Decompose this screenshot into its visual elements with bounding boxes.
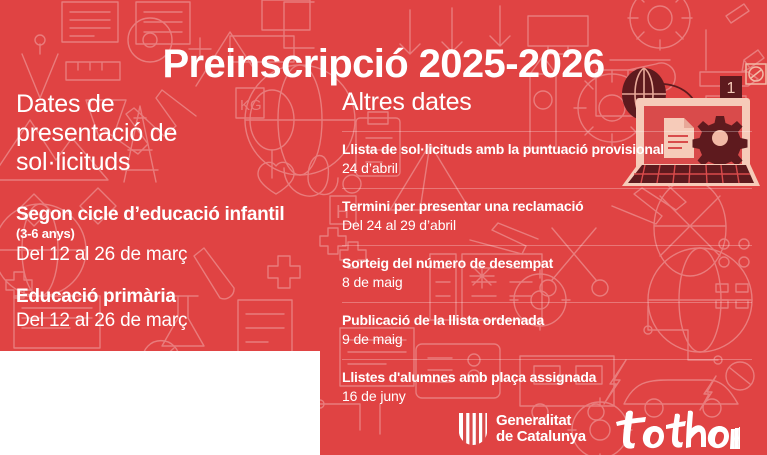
left-entry-dates: Del 12 al 26 de març xyxy=(16,243,316,267)
right-column-heading: Altres dates xyxy=(342,88,752,117)
left-entry: Educació primària Del 12 al 26 de març xyxy=(16,285,316,333)
right-entry: Sorteig del número de desempat 8 de maig xyxy=(342,245,752,302)
right-entry-date: 8 de maig xyxy=(342,273,752,292)
right-entry-title: Publicació de la llista ordenada xyxy=(342,312,752,329)
left-entry-subtitle: (3-6 anys) xyxy=(16,226,316,242)
catalunya-four-bars-shield-icon xyxy=(458,412,488,446)
left-entry-title: Educació primària xyxy=(16,285,316,308)
page-title: Preinscripció 2025-2026 xyxy=(0,41,767,87)
right-entry-date: Del 24 al 29 d’abril xyxy=(342,216,752,235)
logo-bar: Generalitat de Catalunya xyxy=(458,408,758,450)
right-entry-title: Llista de sol·licituds amb la puntuació … xyxy=(342,141,752,158)
right-entry: Publicació de la llista ordenada 9 de ma… xyxy=(342,302,752,359)
generalitat-logo-text: Generalitat de Catalunya xyxy=(496,413,586,445)
right-entry-title: Sorteig del número de desempat xyxy=(342,255,752,272)
left-entry: Segon cicle d’educació infantil (3-6 any… xyxy=(16,203,316,267)
left-entry-title: Segon cicle d’educació infantil xyxy=(16,203,316,226)
right-entry-date: 9 de maig xyxy=(342,330,752,349)
right-entry-title: Llistes d'alumnes amb plaça assignada xyxy=(342,369,752,386)
right-entry-title: Termini per presentar una reclamació xyxy=(342,198,752,215)
right-entry-date: 24 d’abril xyxy=(342,159,752,178)
left-column-heading: Dates de presentació de sol·licituds xyxy=(16,90,316,177)
preinscripcio-poster: H KG xyxy=(0,0,767,455)
right-entry: Termini per presentar una reclamació Del… xyxy=(342,188,752,245)
right-column: Altres dates Llista de sol·licituds amb … xyxy=(342,88,752,416)
tothom-logo xyxy=(612,409,740,449)
right-entry: Llista de sol·licituds amb la puntuació … xyxy=(342,131,752,188)
right-entry-date: 16 de juny xyxy=(342,387,752,406)
white-bottom-left-panel xyxy=(0,351,320,455)
left-entry-dates: Del 12 al 26 de març xyxy=(16,309,316,333)
left-column: Dates de presentació de sol·licituds Seg… xyxy=(16,90,316,351)
generalitat-de-catalunya-logo: Generalitat de Catalunya xyxy=(458,412,586,446)
